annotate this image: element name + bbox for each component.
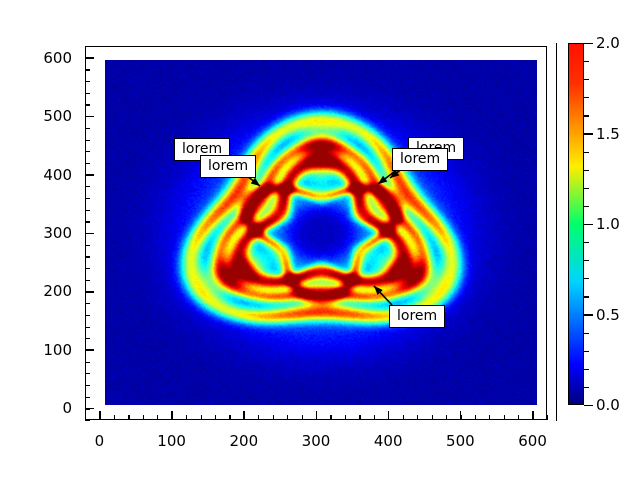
- colorbar-tick-minor: [584, 351, 589, 352]
- ytick-major: [85, 57, 94, 59]
- xtick-label: 400: [374, 432, 403, 450]
- colorbar-tick-label: 2.0: [596, 34, 620, 52]
- ytick-label: 300: [30, 224, 72, 242]
- colorbar-tick-minor: [584, 79, 589, 80]
- colorbar-tick-major: [584, 224, 593, 226]
- ytick-minor: [85, 128, 90, 129]
- xtick-minor: [475, 415, 476, 420]
- xtick-major: [316, 411, 318, 420]
- figure-canvas: 01002003004005006000100200300400500600 0…: [0, 0, 640, 480]
- xtick-minor: [186, 415, 187, 420]
- xtick-minor: [287, 415, 288, 420]
- ytick-major: [85, 116, 94, 118]
- ytick-minor: [85, 210, 90, 211]
- xtick-minor: [345, 415, 346, 420]
- colorbar-tick-minor: [584, 369, 589, 370]
- colorbar-tick-major: [584, 405, 593, 407]
- colorbar-tick-minor: [584, 97, 589, 98]
- ytick-minor: [85, 104, 90, 105]
- xtick-label: 200: [229, 432, 258, 450]
- ytick-label: 400: [30, 166, 72, 184]
- xtick-minor: [504, 415, 505, 420]
- ytick-minor: [85, 362, 90, 363]
- colorbar-tick-minor: [584, 115, 589, 116]
- xtick-minor: [258, 415, 259, 420]
- xtick-major: [171, 411, 173, 420]
- colorbar-tick-minor: [584, 333, 589, 334]
- ytick-label: 0: [30, 399, 72, 417]
- ytick-major: [85, 174, 94, 176]
- ytick-minor: [85, 46, 90, 47]
- ytick-minor: [85, 268, 90, 269]
- xtick-minor: [128, 415, 129, 420]
- colorbar-tick-minor: [584, 188, 589, 189]
- xtick-minor: [330, 415, 331, 420]
- ytick-minor: [85, 163, 90, 164]
- ytick-minor: [85, 198, 90, 199]
- ytick-minor: [85, 420, 90, 421]
- colorbar-tick-minor: [584, 61, 589, 62]
- colorbar: [568, 43, 584, 405]
- colorbar-tick-label: 1.5: [596, 125, 620, 143]
- xtick-label: 100: [157, 432, 186, 450]
- colorbar-tick-minor: [584, 296, 589, 297]
- colorbar-tick-minor: [584, 387, 589, 388]
- colorbar-tick-minor: [584, 278, 589, 279]
- colorbar-tick-minor: [584, 152, 589, 153]
- xtick-minor: [547, 415, 548, 420]
- ytick-minor: [85, 140, 90, 141]
- ytick-minor: [85, 245, 90, 246]
- xtick-minor: [446, 415, 447, 420]
- ytick-major: [85, 349, 94, 351]
- xtick-minor: [215, 415, 216, 420]
- ytick-minor: [85, 373, 90, 374]
- ytick-minor: [85, 186, 90, 187]
- ytick-major: [85, 291, 94, 293]
- colorbar-tick-major: [584, 43, 593, 45]
- colorbar-tick-label: 0.0: [596, 396, 620, 414]
- heatmap-image: [105, 60, 537, 405]
- xtick-minor: [374, 415, 375, 420]
- ytick-label: 500: [30, 107, 72, 125]
- xtick-minor: [157, 415, 158, 420]
- xtick-minor: [201, 415, 202, 420]
- ytick-label: 200: [30, 282, 72, 300]
- ytick-minor: [85, 338, 90, 339]
- annot-upper-left-front[interactable]: lorem: [200, 155, 256, 178]
- xtick-label: 600: [518, 432, 547, 450]
- colorbar-tick-label: 1.0: [596, 215, 620, 233]
- xtick-label: 300: [302, 432, 331, 450]
- ytick-minor: [85, 280, 90, 281]
- xtick-minor: [359, 415, 360, 420]
- colorbar-tick-minor: [584, 170, 589, 171]
- xtick-minor: [403, 415, 404, 420]
- ytick-minor: [85, 69, 90, 70]
- xtick-minor: [85, 415, 86, 420]
- annot-lower-right[interactable]: lorem: [389, 305, 445, 328]
- ytick-minor: [85, 151, 90, 152]
- xtick-minor: [114, 415, 115, 420]
- colorbar-tick-major: [584, 314, 593, 316]
- ytick-major: [85, 233, 94, 235]
- ytick-minor: [85, 256, 90, 257]
- ytick-minor: [85, 397, 90, 398]
- ytick-minor: [85, 315, 90, 316]
- colorbar-tick-major: [584, 133, 593, 135]
- colorbar-gradient: [569, 44, 583, 404]
- xtick-major: [460, 411, 462, 420]
- xtick-major: [243, 411, 245, 420]
- ytick-minor: [85, 385, 90, 386]
- xtick-minor: [143, 415, 144, 420]
- xtick-minor: [518, 415, 519, 420]
- annot-upper-right-front[interactable]: lorem: [392, 148, 448, 171]
- ytick-minor: [85, 327, 90, 328]
- ytick-major: [85, 408, 94, 410]
- xtick-minor: [273, 415, 274, 420]
- colorbar-tick-minor: [584, 260, 589, 261]
- ytick-minor: [85, 221, 90, 222]
- colorbar-separator-line: [556, 43, 557, 421]
- ytick-label: 100: [30, 341, 72, 359]
- xtick-major: [532, 411, 534, 420]
- ytick-minor: [85, 93, 90, 94]
- ytick-label: 600: [30, 49, 72, 67]
- xtick-minor: [229, 415, 230, 420]
- ytick-minor: [85, 81, 90, 82]
- xtick-label: 500: [446, 432, 475, 450]
- xtick-major: [99, 411, 101, 420]
- colorbar-tick-minor: [584, 242, 589, 243]
- xtick-minor: [432, 415, 433, 420]
- xtick-major: [388, 411, 390, 420]
- xtick-minor: [417, 415, 418, 420]
- xtick-minor: [489, 415, 490, 420]
- colorbar-tick-minor: [584, 206, 589, 207]
- xtick-minor: [302, 415, 303, 420]
- ytick-minor: [85, 303, 90, 304]
- colorbar-tick-label: 0.5: [596, 306, 620, 324]
- xtick-label: 0: [95, 432, 105, 450]
